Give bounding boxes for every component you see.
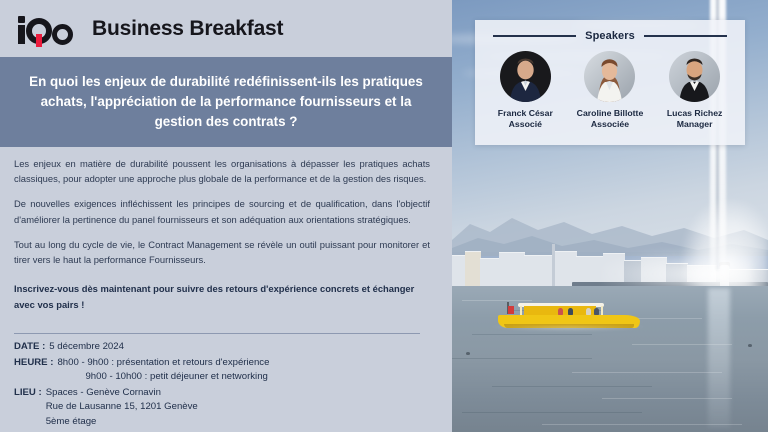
detail-label-date: DATE : — [14, 340, 49, 355]
body-paragraph-1: Les enjeux en matière de durabilité pous… — [14, 156, 430, 186]
building — [553, 251, 577, 286]
detail-row-date: DATE : 5 décembre 2024 — [14, 340, 434, 355]
heading-rule-right — [644, 35, 727, 36]
speaker-name: Franck César — [484, 108, 566, 119]
detail-label-heure: HEURE : — [14, 356, 57, 371]
detail-line: Rue de Lausanne 15, 1201 Genève — [46, 400, 434, 415]
detail-line: 8h00 - 9h00 : présentation et retours d'… — [57, 356, 434, 371]
boat-passenger — [568, 308, 573, 315]
building — [524, 255, 554, 286]
speaker-role: Associée — [569, 119, 651, 130]
jet-deau-spray — [682, 200, 768, 292]
details-divider — [14, 333, 420, 334]
body-copy: Les enjeux en matière de durabilité pous… — [0, 150, 452, 312]
jet-reflection — [708, 288, 730, 428]
yellow-boat — [498, 300, 640, 328]
detail-line: 5 décembre 2024 — [49, 340, 434, 355]
church-spire — [552, 244, 555, 286]
speaker-card-1: Franck César Associé — [484, 51, 566, 130]
boat-passenger — [586, 308, 591, 315]
header-band: Business Breakfast — [0, 0, 452, 57]
detail-values-heure: 8h00 - 9h00 : présentation et retours d'… — [57, 356, 434, 385]
logo-q-red-tail — [36, 34, 42, 47]
detail-label-lieu: LIEU : — [14, 386, 46, 401]
brand-title: Business Breakfast — [92, 17, 283, 41]
swiss-flag-icon — [508, 306, 514, 314]
event-details: DATE : 5 décembre 2024 HEURE : 8h00 - 9h… — [14, 340, 434, 430]
building — [452, 255, 466, 286]
detail-row-lieu: LIEU : Spaces - Genève Cornavin Rue de L… — [14, 386, 434, 430]
body-paragraph-3: Tout au long du cycle de vie, le Contrac… — [14, 237, 430, 267]
left-content-panel: Business Breakfast En quoi les enjeux de… — [0, 0, 452, 432]
speakers-row: Franck César Associé — [475, 51, 745, 130]
logo-i-stem — [18, 25, 25, 44]
avatar-caroline-billotte — [584, 51, 635, 102]
speakers-card: Speakers — [475, 20, 745, 145]
detail-values-lieu: Spaces - Genève Cornavin Rue de Lausanne… — [46, 386, 434, 430]
speaker-card-3: Lucas Richez Manager — [654, 51, 736, 130]
headline-text: En quoi les enjeux de durabilité redéfin… — [18, 72, 434, 132]
boat-passenger — [558, 308, 563, 315]
speakers-title: Speakers — [585, 30, 635, 42]
avatar-lucas-richez — [669, 51, 720, 102]
body-paragraph-2: De nouvelles exigences infléchissent les… — [14, 196, 430, 226]
boat-passenger — [594, 308, 599, 315]
building — [465, 251, 481, 286]
call-to-action-text: Inscrivez-vous dès maintenant pour suivr… — [14, 281, 430, 311]
avatar-franck-cesar — [500, 51, 551, 102]
geneva-lake-photo: Speakers — [452, 0, 768, 432]
heading-rule-left — [493, 35, 576, 36]
speaker-name: Lucas Richez — [654, 108, 736, 119]
duck-icon — [748, 344, 752, 347]
detail-values-date: 5 décembre 2024 — [49, 340, 434, 355]
presentation-slide: Business Breakfast En quoi les enjeux de… — [0, 0, 768, 432]
speaker-role: Manager — [654, 119, 736, 130]
detail-line: Spaces - Genève Cornavin — [46, 386, 434, 401]
building — [480, 258, 500, 286]
boat-wake — [488, 326, 648, 331]
detail-line: 9h00 - 10h00 : petit déjeuner et network… — [57, 370, 434, 385]
duck-icon — [466, 352, 470, 355]
logo-o-ring — [52, 24, 73, 45]
detail-line: 5ème étage — [46, 415, 434, 430]
speaker-card-2: Caroline Billotte Associée — [569, 51, 651, 130]
speaker-name: Caroline Billotte — [569, 108, 651, 119]
iqo-logo-icon — [16, 12, 80, 46]
speaker-role: Associé — [484, 119, 566, 130]
detail-row-heure: HEURE : 8h00 - 9h00 : présentation et re… — [14, 356, 434, 385]
logo-i-dot — [18, 16, 25, 23]
building — [499, 252, 525, 286]
speakers-heading: Speakers — [475, 30, 745, 42]
headline-block: En quoi les enjeux de durabilité redéfin… — [0, 57, 452, 147]
